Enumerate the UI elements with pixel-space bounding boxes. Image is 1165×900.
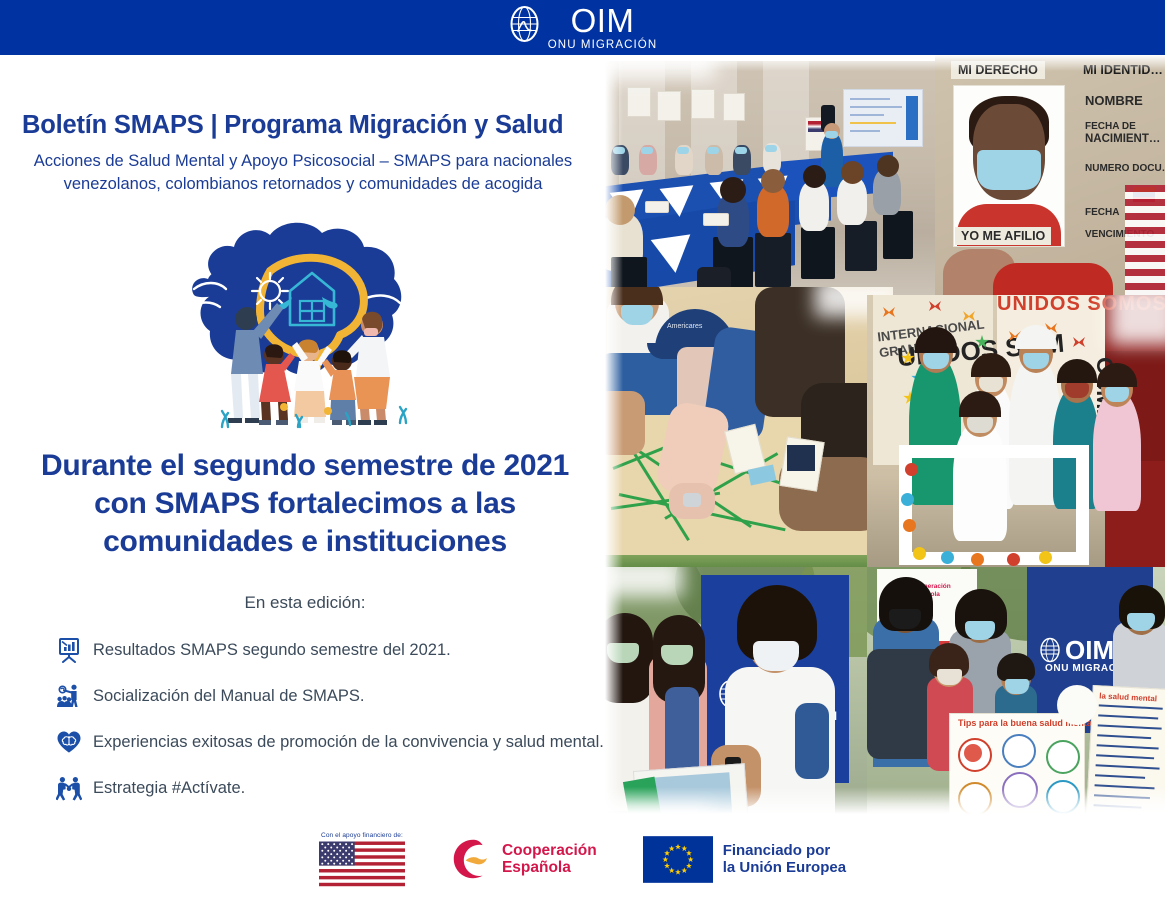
photo-family-posters: CooperaciónEspañola OIM ONU MIGRACIÓN: [867, 567, 1165, 817]
oim-globe-icon: [1039, 637, 1061, 663]
photo-meeting-room: [605, 61, 957, 306]
chart-easel-icon: [56, 637, 82, 663]
presenter-audience-icon: [56, 683, 82, 709]
list-item: Socialización del Manual de SMAPS.: [56, 673, 596, 719]
main-headline: Durante el segundo semestre de 2021 con …: [20, 447, 590, 561]
cooperacion-line2: Española: [502, 859, 597, 876]
list-item-label: Estrategia #Actívate.: [93, 778, 245, 798]
oim-logo: OIM ONU MIGRACIÓN: [508, 4, 658, 52]
list-item: Estrategia #Actívate.: [56, 765, 596, 811]
caption-numero-documento: NUMERO DOCU…: [1085, 163, 1165, 174]
caption-nacimiento: NACIMIENT…: [1085, 133, 1160, 145]
usa-support-caption: Con el apoyo financiero de:: [321, 832, 403, 839]
page-subtitle: Acciones de Salud Mental y Apoyo Psicoso…: [14, 150, 592, 196]
photo-id-poster: MI DERECHO MI IDENTID… NOMBRE FECHA DE N…: [935, 55, 1165, 313]
cooperacion-espanola-text: Cooperación Española: [502, 842, 597, 876]
eu-line1: Financiado por: [723, 842, 846, 859]
eu-line2: la Unión Europea: [723, 859, 846, 876]
edition-label: En esta edición:: [20, 593, 590, 613]
edition-list: Resultados SMAPS segundo semestre del 20…: [56, 627, 596, 811]
collage-top-fade: [605, 55, 1165, 71]
collage-left-fade: [605, 55, 623, 817]
cooperacion-espanola-logo: [451, 837, 495, 881]
usa-flag-icon: [319, 841, 405, 887]
newsletter-page: OIM ONU MIGRACIÓN Boletín SMAPS | Progra…: [0, 0, 1165, 900]
people-celebrating-icon: [56, 775, 82, 801]
usa-support-block: Con el apoyo financiero de:: [319, 832, 405, 887]
eu-flag-icon: [643, 836, 713, 883]
oim-wordmark: OIM ONU MIGRACIÓN: [548, 4, 658, 52]
list-item-label: Socialización del Manual de SMAPS.: [93, 686, 364, 706]
list-item: Experiencias exitosas de promoción de la…: [56, 719, 596, 765]
oim-globe-icon: [508, 5, 541, 43]
oim-logo-main: OIM: [571, 4, 635, 37]
photo-kids-frame: INTERNACIONAL GRAN UNIDOS SOMOS UNIDOS S…: [867, 295, 1165, 595]
caption-salud-mental: la salud mental: [1099, 691, 1157, 703]
caption-nombre: NOMBRE: [1085, 93, 1143, 108]
photo-collage: MI DERECHO MI IDENTID… NOMBRE FECHA DE N…: [605, 55, 1165, 817]
cooperacion-line1: Cooperación: [502, 842, 597, 859]
page-title: Boletín SMAPS | Programa Migración y Sal…: [22, 110, 582, 140]
eu-funding-text: Financiado por la Unión Europea: [723, 842, 846, 876]
caption-americares: Americares: [667, 323, 702, 330]
photo-string-activity: Americares: [605, 287, 893, 577]
heart-brain-icon: [56, 729, 82, 755]
collage-bottom-fade: [605, 787, 1165, 817]
caption-fecha-de: FECHA DE: [1085, 121, 1136, 132]
footer-logos: Con el apoyo financiero de:: [0, 818, 1165, 900]
left-column: Boletín SMAPS | Programa Migración y Sal…: [0, 55, 605, 815]
caption-fecha: FECHA: [1085, 207, 1119, 218]
photo-oim-banner-group: OIM ONU MIGRACIÓN colombia.iom.int: [605, 567, 905, 817]
caption-yo-me-afilio: YO ME AFILIO: [955, 227, 1051, 245]
header-bar: OIM ONU MIGRACIÓN: [0, 0, 1165, 55]
cooperacion-espanola-block: Cooperación Española: [451, 837, 597, 881]
oim-banner-2-main: OIM: [1065, 635, 1114, 666]
oim-logo-sub: ONU MIGRACIÓN: [548, 39, 658, 52]
list-item-label: Resultados SMAPS segundo semestre del 20…: [93, 640, 451, 660]
eu-funding-block: Financiado por la Unión Europea: [643, 836, 846, 883]
projection-screen: [843, 89, 923, 147]
decorated-photo-frame: [899, 445, 1089, 565]
list-item-label: Experiencias exitosas de promoción de la…: [93, 732, 604, 752]
id-photo-card: [953, 85, 1065, 247]
list-item: Resultados SMAPS segundo semestre del 20…: [56, 627, 596, 673]
family-thought-bubble-illustration: [150, 215, 470, 445]
